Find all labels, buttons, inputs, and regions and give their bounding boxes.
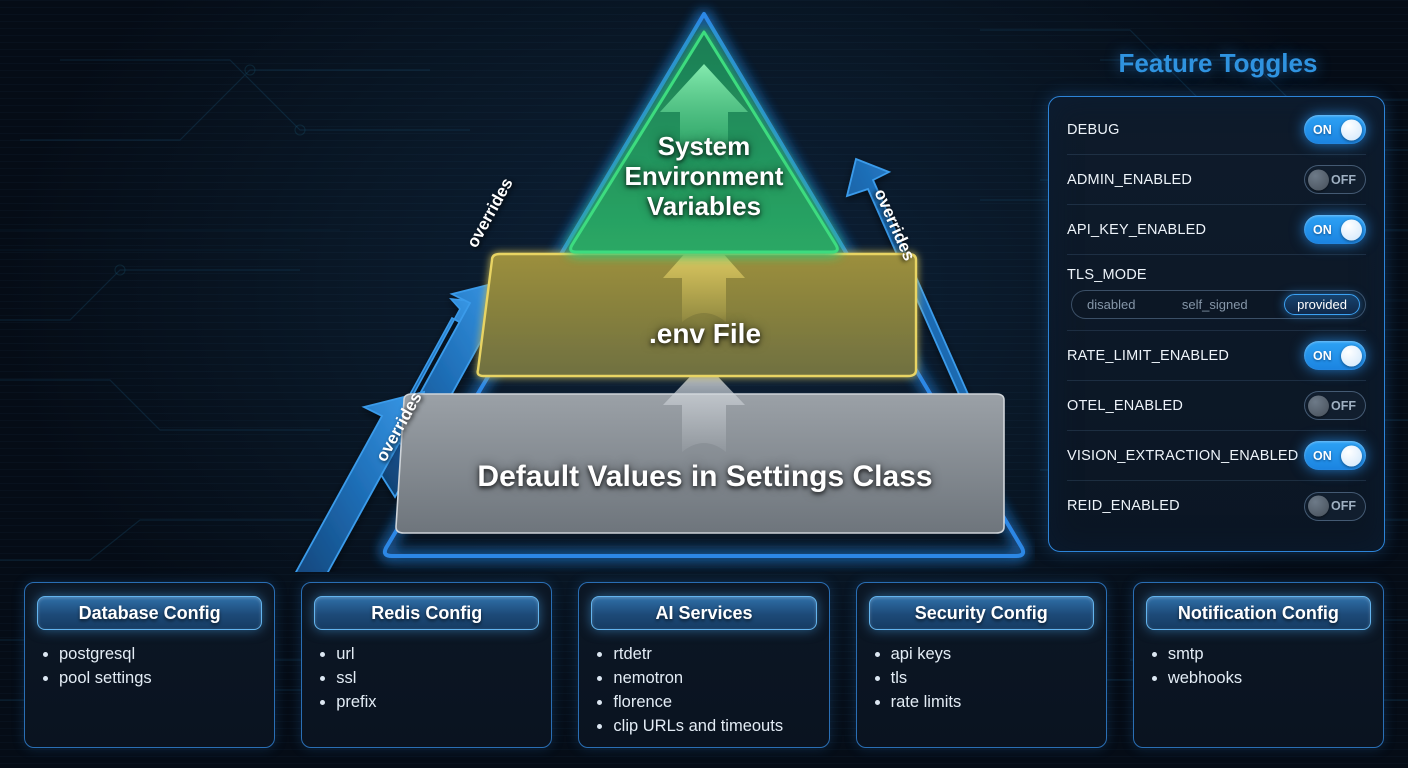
card-title: AI Services — [591, 596, 816, 630]
toggle-label: OTEL_ENABLED — [1067, 398, 1183, 414]
config-precedence-pyramid: SystemEnvironmentVariables .env File Def… — [0, 0, 1035, 570]
card-title: Redis Config — [314, 596, 539, 630]
segmented-control-tls-mode[interactable]: disabled self_signed provided — [1071, 290, 1366, 319]
toggle-label: ADMIN_ENABLED — [1067, 172, 1192, 188]
card-title: Notification Config — [1146, 596, 1371, 630]
toggle-row-debug[interactable]: DEBUG ON — [1067, 105, 1366, 155]
toggle-state-text: OFF — [1331, 173, 1356, 187]
card-list: url ssl prefix — [336, 642, 539, 714]
toggle-knob — [1341, 345, 1362, 366]
toggle-switch-admin-enabled[interactable]: OFF — [1304, 165, 1366, 194]
diagram-canvas: SystemEnvironmentVariables .env File Def… — [0, 0, 1408, 768]
card-list: smtp webhooks — [1168, 642, 1371, 690]
card-title: Database Config — [37, 596, 262, 630]
toggle-row-api-key-enabled[interactable]: API_KEY_ENABLED ON — [1067, 205, 1366, 255]
list-item: tls — [891, 666, 1094, 690]
toggle-label: REID_ENABLED — [1067, 498, 1180, 514]
toggle-knob — [1341, 119, 1362, 140]
card-security-config: Security Config api keys tls rate limits — [856, 582, 1107, 748]
list-item: clip URLs and timeouts — [613, 714, 816, 738]
toggle-label: DEBUG — [1067, 122, 1120, 138]
toggle-switch-debug[interactable]: ON — [1304, 115, 1366, 144]
toggle-row-admin-enabled[interactable]: ADMIN_ENABLED OFF — [1067, 155, 1366, 205]
segmented-label: TLS_MODE — [1067, 267, 1366, 283]
toggle-knob — [1308, 395, 1329, 416]
feature-toggles-title: Feature Toggles — [1048, 48, 1388, 79]
config-cards-row: Database Config postgresql pool settings… — [24, 582, 1384, 748]
list-item: url — [336, 642, 539, 666]
list-item: prefix — [336, 690, 539, 714]
list-item: rate limits — [891, 690, 1094, 714]
toggle-label: API_KEY_ENABLED — [1067, 222, 1206, 238]
toggle-state-text: ON — [1313, 223, 1332, 237]
toggle-knob — [1341, 219, 1362, 240]
card-list: rtdetr nemotron florence clip URLs and t… — [613, 642, 816, 738]
card-database-config: Database Config postgresql pool settings — [24, 582, 275, 748]
list-item: florence — [613, 690, 816, 714]
card-ai-services: AI Services rtdetr nemotron florence cli… — [578, 582, 829, 748]
list-item: ssl — [336, 666, 539, 690]
list-item: pool settings — [59, 666, 262, 690]
toggle-state-text: ON — [1313, 349, 1332, 363]
toggle-row-reid-enabled[interactable]: REID_ENABLED OFF — [1067, 481, 1366, 531]
card-notification-config: Notification Config smtp webhooks — [1133, 582, 1384, 748]
toggle-row-otel-enabled[interactable]: OTEL_ENABLED OFF — [1067, 381, 1366, 431]
segment-option-self-signed[interactable]: self_signed — [1172, 294, 1258, 315]
feature-toggles-panel: DEBUG ON ADMIN_ENABLED OFF API_KEY_ENABL… — [1048, 96, 1385, 552]
card-list: postgresql pool settings — [59, 642, 262, 690]
toggle-switch-otel-enabled[interactable]: OFF — [1304, 391, 1366, 420]
list-item: smtp — [1168, 642, 1371, 666]
toggle-state-text: OFF — [1331, 399, 1356, 413]
toggle-switch-api-key-enabled[interactable]: ON — [1304, 215, 1366, 244]
toggle-switch-vision-extraction-enabled[interactable]: ON — [1304, 441, 1366, 470]
list-item: rtdetr — [613, 642, 816, 666]
segment-option-disabled[interactable]: disabled — [1077, 294, 1145, 315]
card-title: Security Config — [869, 596, 1094, 630]
toggle-label: RATE_LIMIT_ENABLED — [1067, 348, 1229, 364]
toggle-row-vision-extraction-enabled[interactable]: VISION_EXTRACTION_ENABLED ON — [1067, 431, 1366, 481]
toggle-switch-rate-limit-enabled[interactable]: ON — [1304, 341, 1366, 370]
toggle-state-text: ON — [1313, 449, 1332, 463]
card-redis-config: Redis Config url ssl prefix — [301, 582, 552, 748]
toggle-label: VISION_EXTRACTION_ENABLED — [1067, 448, 1298, 464]
card-list: api keys tls rate limits — [891, 642, 1094, 714]
segmented-row-tls-mode[interactable]: TLS_MODE disabled self_signed provided — [1067, 255, 1366, 331]
toggle-knob — [1341, 445, 1362, 466]
segment-option-provided[interactable]: provided — [1284, 294, 1360, 315]
toggle-knob — [1308, 496, 1329, 517]
toggle-state-text: ON — [1313, 123, 1332, 137]
list-item: api keys — [891, 642, 1094, 666]
list-item: nemotron — [613, 666, 816, 690]
toggle-row-rate-limit-enabled[interactable]: RATE_LIMIT_ENABLED ON — [1067, 331, 1366, 381]
list-item: postgresql — [59, 642, 262, 666]
toggle-switch-reid-enabled[interactable]: OFF — [1304, 492, 1366, 521]
toggle-state-text: OFF — [1331, 499, 1356, 513]
list-item: webhooks — [1168, 666, 1371, 690]
toggle-knob — [1308, 169, 1329, 190]
